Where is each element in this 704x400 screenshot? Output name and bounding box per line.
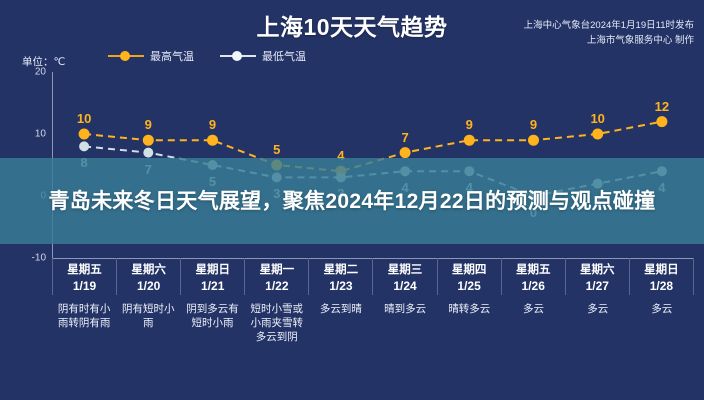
data-point	[79, 129, 90, 140]
day-date: 1/28	[632, 278, 691, 295]
day-date: 1/26	[504, 278, 563, 295]
chart-legend: 最高气温 最低气温	[108, 48, 306, 64]
data-point	[528, 135, 539, 146]
data-point-label: 9	[466, 117, 473, 132]
weather-condition-text: 阴到多云有短时小雨	[180, 302, 244, 344]
data-point-label: 12	[655, 99, 669, 114]
line-marker-icon-high	[108, 50, 144, 62]
weather-condition-text: 多云	[630, 302, 694, 344]
weather-condition-text: 短时小雪或小雨夹雪转多云到阴	[245, 302, 309, 344]
data-point-label: 10	[590, 111, 604, 126]
weather-condition-text: 多云	[566, 302, 630, 344]
issuer-credit: 上海中心气象台2024年1月19日11时发布 上海市气象服务中心 制作	[524, 18, 694, 48]
data-point	[400, 147, 411, 158]
day-date: 1/19	[55, 278, 114, 295]
data-point	[207, 135, 218, 146]
day-weekday: 星期日	[632, 262, 691, 278]
day-column[interactable]: 星期四1/25	[437, 258, 501, 295]
data-point	[656, 116, 667, 127]
condition-row: 阴有时有小雨转阴有雨阴有短时小雨阴到多云有短时小雨短时小雪或小雨夹雪转多云到阴多…	[52, 302, 694, 344]
data-point-label: 7	[401, 130, 408, 145]
data-point	[464, 135, 475, 146]
day-column[interactable]: 星期五1/26	[501, 258, 565, 295]
issuer-line-2: 上海市气象服务中心 制作	[524, 33, 694, 48]
day-weekday: 星期四	[440, 262, 499, 278]
y-tick-label: -10	[32, 253, 46, 264]
day-column[interactable]: 星期一1/22	[244, 258, 308, 295]
article-title-banner: 青岛未来冬日天气展望，聚焦2024年12月22日的预测与观点碰撞	[0, 158, 704, 244]
data-point	[79, 141, 89, 151]
day-date: 1/23	[311, 278, 370, 295]
legend-item-low: 最低气温	[220, 48, 306, 64]
day-column[interactable]: 星期五1/19	[52, 258, 116, 295]
legend-label-high: 最高气温	[150, 48, 194, 64]
day-weekday: 星期五	[504, 262, 563, 278]
data-point-label: 9	[209, 117, 216, 132]
day-weekday: 星期六	[119, 262, 178, 278]
day-column[interactable]: 星期日1/21	[180, 258, 244, 295]
day-date: 1/24	[375, 278, 434, 295]
data-point	[143, 135, 154, 146]
day-weekday: 星期日	[183, 262, 242, 278]
day-column[interactable]: 星期二1/23	[308, 258, 372, 295]
day-column[interactable]: 星期六1/20	[116, 258, 180, 295]
weather-condition-text: 阴有时有小雨转阴有雨	[52, 302, 116, 344]
day-header-row: 星期五1/19星期六1/20星期日1/21星期一1/22星期二1/23星期三1/…	[52, 258, 694, 295]
day-date: 1/21	[183, 278, 242, 295]
data-point-label: 9	[145, 117, 152, 132]
day-weekday: 星期五	[55, 262, 114, 278]
day-weekday: 星期三	[375, 262, 434, 278]
data-point	[592, 129, 603, 140]
day-column[interactable]: 星期日1/28	[629, 258, 694, 295]
weather-condition-text: 多云到晴	[309, 302, 373, 344]
article-title-text: 青岛未来冬日天气展望，聚焦2024年12月22日的预测与观点碰撞	[46, 186, 658, 217]
weather-condition-text: 晴转多云	[437, 302, 501, 344]
day-date: 1/20	[119, 278, 178, 295]
day-weekday: 星期二	[311, 262, 370, 278]
day-column[interactable]: 星期三1/24	[372, 258, 436, 295]
day-date: 1/22	[247, 278, 306, 295]
data-point-label: 5	[273, 142, 280, 157]
y-tick-label: 20	[35, 67, 46, 78]
line-marker-icon-low	[220, 50, 256, 62]
day-column[interactable]: 星期六1/27	[565, 258, 629, 295]
legend-item-high: 最高气温	[108, 48, 194, 64]
data-point-label: 10	[77, 111, 91, 126]
day-date: 1/27	[568, 278, 627, 295]
day-weekday: 星期一	[247, 262, 306, 278]
weather-condition-text: 阴有短时小雨	[116, 302, 180, 344]
data-point	[143, 148, 153, 158]
day-date: 1/25	[440, 278, 499, 295]
weather-condition-text: 晴到多云	[373, 302, 437, 344]
y-tick-label: 10	[35, 129, 46, 140]
weather-trend-infographic: 上海10天天气趋势 上海中心气象台2024年1月19日11时发布 上海市气象服务…	[0, 0, 704, 400]
issuer-line-1: 上海中心气象台2024年1月19日11时发布	[524, 18, 694, 33]
data-point-label: 9	[530, 117, 537, 132]
forecast-table: 星期五1/19星期六1/20星期日1/21星期一1/22星期二1/23星期三1/…	[52, 258, 694, 388]
day-weekday: 星期六	[568, 262, 627, 278]
weather-condition-text: 多云	[501, 302, 565, 344]
legend-label-low: 最低气温	[262, 48, 306, 64]
